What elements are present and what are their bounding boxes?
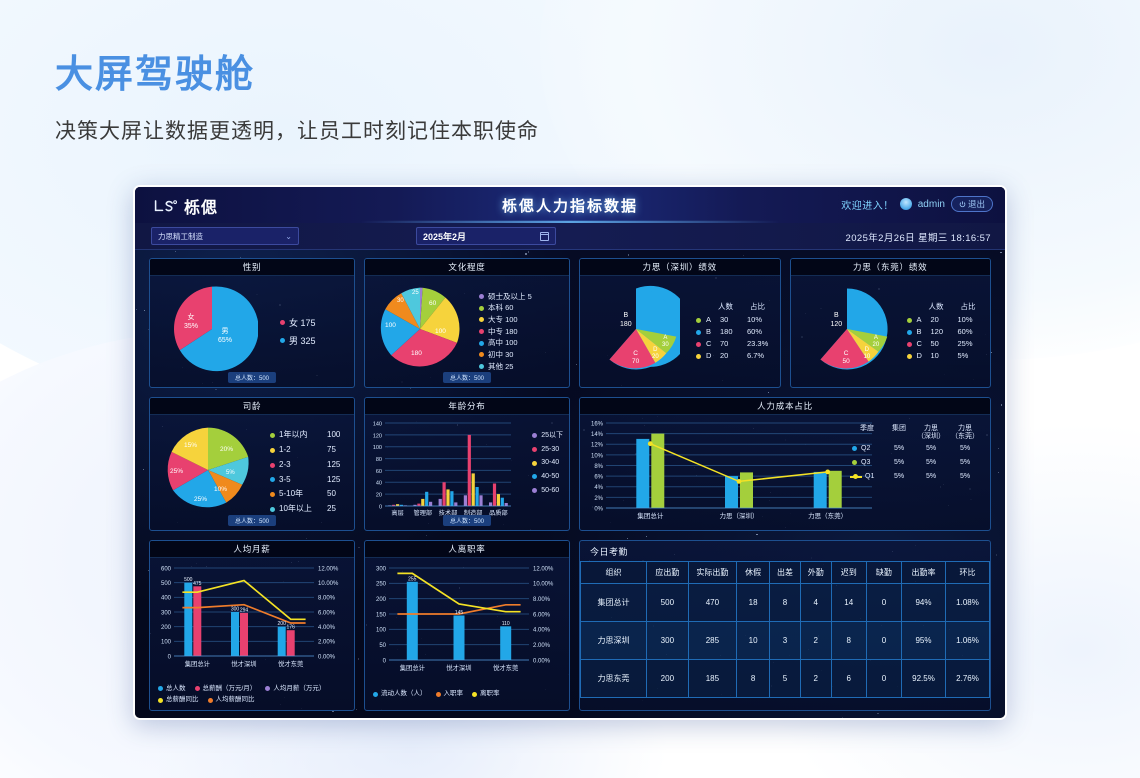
attendance-title: 今日考勤 bbox=[580, 541, 990, 561]
legend-dot-icon bbox=[270, 492, 275, 497]
perf-dg-label-b: B120 bbox=[831, 311, 843, 329]
table-cell: 力思东莞 bbox=[581, 660, 647, 698]
legend-dot-icon bbox=[907, 330, 912, 335]
svg-text:600: 600 bbox=[161, 566, 172, 572]
legend-dot-icon bbox=[696, 342, 701, 347]
legend-dot-icon bbox=[479, 317, 484, 322]
legend-dot-icon bbox=[532, 461, 537, 466]
table-cell: 5 bbox=[770, 660, 801, 698]
card-education: 文化程度 bbox=[364, 258, 570, 388]
chart-row-2: 司龄 2 bbox=[149, 397, 991, 531]
card-avg-salary: 人均月薪 600500400300200100012.00%10.00%8.00… bbox=[149, 540, 355, 711]
table-cell: 8 bbox=[770, 584, 801, 622]
card-body-perf-shenzhen: B180 C70 D20 A30 bbox=[580, 276, 780, 387]
org-select[interactable]: 力思精工制造 ⌄ bbox=[151, 227, 299, 245]
attendance-col-header: 应出勤 bbox=[646, 562, 688, 584]
table-row: 集团总计500470188414094%1.08% bbox=[581, 584, 990, 622]
hr-cost-table-row: Q1 5% 5% 5% bbox=[850, 473, 982, 480]
perf-sz-label-a: A30 bbox=[662, 335, 669, 349]
legend-line-icon bbox=[850, 476, 862, 478]
legend-dot-icon bbox=[696, 318, 701, 323]
chart-row-1: 性别 女 35% 男 bbox=[149, 258, 991, 388]
edu-label-60: 60 bbox=[429, 300, 436, 307]
legend-dot-icon bbox=[208, 698, 213, 703]
legend-item: 40-50 bbox=[532, 470, 563, 484]
card-age-distribution: 年龄分布 140120100806040200高层管理部技术部制造部品质部 25… bbox=[364, 397, 570, 531]
perf-row: D206.7% bbox=[696, 350, 778, 362]
legend-dot-icon bbox=[907, 354, 912, 359]
card-body-turnover: 30025020015010050012.00%10.00%8.00%6.00%… bbox=[365, 558, 569, 710]
table-cell: 0 bbox=[866, 660, 901, 698]
legend-item: 总薪酬（万元/月） bbox=[195, 683, 257, 695]
table-cell: 集团总计 bbox=[581, 584, 647, 622]
svg-text:200: 200 bbox=[278, 621, 287, 627]
hr-cost-table-header: 季度 集团 力思（深圳） 力思（东莞） bbox=[850, 425, 982, 441]
svg-text:12%: 12% bbox=[591, 443, 604, 449]
card-attendance: 今日考勤 组织应出勤实际出勤休假出差外勤迟到缺勤出勤率环比 集团总计500470… bbox=[579, 540, 991, 711]
svg-text:12.00%: 12.00% bbox=[318, 566, 339, 572]
svg-text:力思（深圳）: 力思（深圳） bbox=[720, 511, 759, 520]
month-picker[interactable]: 2025年2月 bbox=[416, 227, 556, 245]
page-title: 大屏驾驶舱 bbox=[55, 55, 539, 97]
dashboard-topbar: 栎偲 栎偲人力指标数据 欢迎进入！ admin 退出 bbox=[135, 187, 1005, 223]
legend-item: 其他 25 bbox=[479, 361, 532, 373]
legend-item: 2-3125 bbox=[270, 458, 340, 473]
svg-text:10.00%: 10.00% bbox=[318, 581, 339, 587]
legend-item: 离职率 bbox=[472, 688, 500, 700]
legend-dot-icon bbox=[532, 447, 537, 452]
perf-dg-pie: B120 C50 D10 A20 bbox=[803, 285, 891, 378]
perf-col-pct: 占比 bbox=[961, 301, 989, 312]
svg-text:悦才深圳: 悦才深圳 bbox=[446, 663, 471, 672]
brand: 栎偲 bbox=[153, 194, 218, 218]
education-pie: 60 100 180 100 30 25 bbox=[375, 284, 465, 379]
legend-item: 50-60 bbox=[532, 484, 563, 498]
hr-cost-table: 季度 集团 力思（深圳） 力思（东莞） Q2 5% 5% bbox=[850, 425, 982, 487]
table-row: 力思东莞2001858526092.5%2.76% bbox=[581, 660, 990, 698]
legend-dot-icon bbox=[479, 329, 484, 334]
svg-text:10.00%: 10.00% bbox=[533, 582, 554, 588]
table-cell: 4 bbox=[800, 584, 831, 622]
tenure-pct-5: 5% bbox=[226, 470, 235, 476]
gender-total: 总人数：500 bbox=[228, 372, 276, 383]
legend-dot-icon bbox=[479, 306, 484, 311]
perf-row: D105% bbox=[907, 350, 989, 362]
svg-text:2%: 2% bbox=[594, 496, 603, 502]
gender-pie: 女 35% 男 65% bbox=[166, 283, 258, 380]
table-cell: 0 bbox=[866, 622, 901, 660]
svg-text:力思（东莞）: 力思（东莞） bbox=[808, 511, 847, 520]
chart-grid: 性别 女 35% 男 bbox=[135, 250, 1005, 718]
tenure-pct-10: 10% bbox=[214, 486, 227, 493]
table-cell: 470 bbox=[688, 584, 736, 622]
th-group: 集团 bbox=[884, 425, 914, 441]
org-select-value: 力思精工制造 bbox=[158, 231, 203, 242]
perf-dg-label-d: D10 bbox=[864, 347, 871, 361]
table-cell: 92.5% bbox=[902, 660, 946, 698]
svg-text:400: 400 bbox=[161, 596, 172, 602]
legend-dot-icon bbox=[852, 446, 857, 451]
svg-text:悦才东莞: 悦才东莞 bbox=[278, 659, 303, 668]
legend-item: 初中 30 bbox=[479, 349, 532, 361]
logout-label: 退出 bbox=[968, 198, 985, 210]
legend-dot-icon bbox=[195, 686, 200, 691]
legend-item: 3-5125 bbox=[270, 473, 340, 488]
table-cell: 95% bbox=[902, 622, 946, 660]
table-cell: 1.06% bbox=[945, 622, 989, 660]
svg-text:200: 200 bbox=[161, 625, 172, 631]
svg-text:集团总计: 集团总计 bbox=[637, 511, 664, 520]
attendance-col-header: 休假 bbox=[737, 562, 770, 584]
edu-label-25: 25 bbox=[412, 290, 419, 296]
legend-item: 总人数 bbox=[158, 683, 186, 695]
legend-item: 1-275 bbox=[270, 443, 340, 458]
table-cell: 300 bbox=[646, 622, 688, 660]
legend-dot-icon bbox=[479, 341, 484, 346]
attendance-col-header: 外勤 bbox=[800, 562, 831, 584]
topbar-user-area: 欢迎进入！ admin 退出 bbox=[841, 196, 993, 212]
perf-row: A2010% bbox=[907, 314, 989, 326]
turnover-legend: 流动人数（人） 入职率 离职率 bbox=[373, 688, 500, 700]
legend-item: 高中 100 bbox=[479, 337, 532, 349]
table-cell: 力思深圳 bbox=[581, 622, 647, 660]
logout-button[interactable]: 退出 bbox=[951, 196, 993, 212]
svg-text:140: 140 bbox=[373, 421, 382, 427]
card-title-education: 文化程度 bbox=[365, 259, 569, 276]
svg-text:管理部: 管理部 bbox=[414, 509, 433, 517]
attendance-col-header: 出差 bbox=[770, 562, 801, 584]
table-cell: 8 bbox=[737, 660, 770, 698]
svg-text:10%: 10% bbox=[591, 453, 604, 459]
table-cell: 18 bbox=[737, 584, 770, 622]
table-row: 力思深圳30028510328095%1.06% bbox=[581, 622, 990, 660]
power-icon bbox=[959, 201, 966, 208]
table-cell: 3 bbox=[770, 622, 801, 660]
legend-dot-icon bbox=[270, 433, 275, 438]
gender-slice-label-male: 男 65% bbox=[218, 327, 232, 345]
table-cell: 285 bbox=[688, 622, 736, 660]
age-legend: 25以下 25-30 30-40 40-50 50-60 bbox=[532, 429, 563, 497]
svg-text:80: 80 bbox=[376, 457, 382, 463]
svg-text:255: 255 bbox=[408, 576, 417, 582]
table-cell: 1.08% bbox=[945, 584, 989, 622]
perf-col-pct: 占比 bbox=[750, 301, 778, 312]
card-title-avg-salary: 人均月薪 bbox=[150, 541, 354, 558]
hr-cost-plot: 16%14%12%10%8%6%4%2%0%集团总计力思（深圳）力思（东莞） bbox=[580, 415, 880, 530]
legend-dot-icon bbox=[436, 692, 441, 697]
legend-item: 中专 180 bbox=[479, 326, 532, 338]
gender-legend: 女 175 男 325 bbox=[280, 314, 316, 350]
tenure-total: 总人数：500 bbox=[228, 515, 276, 526]
tenure-pct-20: 20% bbox=[220, 446, 233, 453]
salary-legend: 总人数 总薪酬（万元/月） 人均月薪（万元） 总薪酬同比 人均薪酬同比 bbox=[158, 683, 325, 706]
card-title-tenure: 司龄 bbox=[150, 398, 354, 415]
card-body-education: 60 100 180 100 30 25 硕士及以上 5 本科 60 大专 10… bbox=[365, 276, 569, 387]
svg-text:100: 100 bbox=[373, 445, 382, 451]
card-title-age: 年龄分布 bbox=[365, 398, 569, 415]
tenure-pct-25a: 25% bbox=[194, 496, 207, 503]
svg-text:8%: 8% bbox=[594, 464, 603, 470]
card-hr-cost: 人力成本占比 16%14%12%10%8%6%4%2%0%集团总计力思（深圳）力… bbox=[579, 397, 991, 531]
card-body-hr-cost: 16%14%12%10%8%6%4%2%0%集团总计力思（深圳）力思（东莞） 季… bbox=[580, 415, 990, 530]
legend-item: 女 175 bbox=[280, 314, 316, 332]
svg-text:200: 200 bbox=[376, 597, 387, 603]
perf-sz-label-d: D20 bbox=[652, 347, 659, 361]
perf-sz-table: 人数 占比 A3010% B18060% C7023.3% D206.7% bbox=[696, 301, 778, 362]
page-subtitle: 决策大屏让数据更透明，让员工时刻记住本职使命 bbox=[55, 115, 539, 145]
month-picker-value: 2025年2月 bbox=[423, 230, 466, 243]
dashboard-title: 栎偲人力指标数据 bbox=[502, 195, 638, 216]
svg-text:120: 120 bbox=[373, 433, 382, 439]
svg-text:20: 20 bbox=[376, 493, 382, 499]
table-cell: 0 bbox=[866, 584, 901, 622]
tenure-pct-15: 15% bbox=[184, 442, 197, 449]
svg-text:0.00%: 0.00% bbox=[318, 654, 336, 660]
age-total: 总人数：500 bbox=[443, 515, 491, 526]
attendance-col-header: 环比 bbox=[945, 562, 989, 584]
svg-text:集团总计: 集团总计 bbox=[400, 663, 426, 672]
attendance-col-header: 实际出勤 bbox=[688, 562, 736, 584]
table-cell: 14 bbox=[831, 584, 866, 622]
th-dg: 力思（东莞） bbox=[948, 425, 982, 441]
perf-row: B18060% bbox=[696, 326, 778, 338]
table-cell: 185 bbox=[688, 660, 736, 698]
svg-text:6.00%: 6.00% bbox=[318, 610, 336, 616]
dashboard-frame: 栎偲 栎偲人力指标数据 欢迎进入！ admin 退出 力思精工制造 ⌄ 2025… bbox=[133, 185, 1007, 720]
brand-name: 栎偲 bbox=[184, 194, 218, 218]
legend-item: 5-10年50 bbox=[270, 487, 340, 502]
svg-text:0.00%: 0.00% bbox=[533, 658, 551, 664]
perf-col-count: 人数 bbox=[929, 301, 951, 312]
perf-row: C5025% bbox=[907, 338, 989, 350]
svg-text:8.00%: 8.00% bbox=[533, 597, 551, 603]
svg-text:100: 100 bbox=[161, 640, 172, 646]
legend-item: 入职率 bbox=[436, 688, 464, 700]
legend-dot-icon bbox=[158, 686, 163, 691]
perf-dg-table: 人数 占比 A2010% B12060% C5025% D105% bbox=[907, 301, 989, 362]
edu-label-100a: 100 bbox=[435, 328, 446, 335]
svg-text:0: 0 bbox=[168, 654, 172, 660]
svg-text:50: 50 bbox=[379, 643, 386, 649]
table-cell: 10 bbox=[737, 622, 770, 660]
gender-slice-label-female: 女 35% bbox=[184, 313, 198, 331]
attendance-col-header: 出勤率 bbox=[902, 562, 946, 584]
card-body-gender: 女 35% 男 65% 女 175 bbox=[150, 276, 354, 387]
svg-text:300: 300 bbox=[231, 607, 240, 613]
welcome-text: 欢迎进入！ bbox=[841, 197, 894, 212]
perf-sz-label-c: C70 bbox=[632, 350, 639, 366]
table-cell: 500 bbox=[646, 584, 688, 622]
th-sz: 力思（深圳） bbox=[914, 425, 948, 441]
legend-item: 男 325 bbox=[280, 332, 316, 350]
legend-item: 1年以内100 bbox=[270, 428, 340, 443]
legend-dot-icon bbox=[852, 460, 857, 465]
table-cell: 2 bbox=[800, 622, 831, 660]
page-heading: 大屏驾驶舱 决策大屏让数据更透明，让员工时刻记住本职使命 bbox=[55, 55, 539, 145]
card-perf-dongguan: 力思（东莞）绩效 B120 bbox=[790, 258, 992, 388]
svg-text:6%: 6% bbox=[594, 475, 603, 481]
chevron-down-icon: ⌄ bbox=[285, 232, 292, 241]
card-body-avg-salary: 600500400300200100012.00%10.00%8.00%6.00… bbox=[150, 558, 354, 710]
legend-dot-icon bbox=[532, 488, 537, 493]
svg-text:300: 300 bbox=[376, 566, 387, 572]
svg-text:60: 60 bbox=[376, 469, 382, 475]
legend-dot-icon bbox=[280, 338, 285, 343]
legend-dot-icon bbox=[270, 448, 275, 453]
tenure-legend: 1年以内100 1-275 2-3125 3-5125 5-10年50 10年以… bbox=[270, 428, 340, 517]
legend-dot-icon bbox=[479, 294, 484, 299]
attendance-col-header: 组织 bbox=[581, 562, 647, 584]
svg-text:悦才深圳: 悦才深圳 bbox=[231, 659, 256, 668]
svg-text:6.00%: 6.00% bbox=[533, 612, 551, 618]
table-cell: 2 bbox=[800, 660, 831, 698]
tenure-pie: 20% 5% 10% 25% 25% 15% bbox=[162, 424, 254, 521]
attendance-table: 组织应出勤实际出勤休假出差外勤迟到缺勤出勤率环比 集团总计50047018841… bbox=[580, 561, 990, 698]
attendance-table-wrap: 组织应出勤实际出勤休假出差外勤迟到缺勤出勤率环比 集团总计50047018841… bbox=[580, 561, 990, 710]
legend-item: 25以下 bbox=[532, 429, 563, 443]
dashboard: 栎偲 栎偲人力指标数据 欢迎进入！ admin 退出 力思精工制造 ⌄ 2025… bbox=[135, 187, 1005, 718]
education-legend: 硕士及以上 5 本科 60 大专 100 中专 180 高中 100 初中 30… bbox=[479, 291, 532, 372]
legend-dot-icon bbox=[696, 330, 701, 335]
legend-dot-icon bbox=[696, 354, 701, 359]
svg-text:0%: 0% bbox=[594, 506, 603, 512]
legend-dot-icon bbox=[270, 477, 275, 482]
svg-text:0: 0 bbox=[379, 504, 382, 510]
perf-sz-label-b: B180 bbox=[620, 311, 632, 329]
card-turnover: 人离职率 30025020015010050012.00%10.00%8.00%… bbox=[364, 540, 570, 711]
card-body-perf-dongguan: B120 C50 D10 A20 bbox=[791, 276, 991, 387]
perf-dg-label-a: A20 bbox=[873, 335, 880, 349]
table-cell: 8 bbox=[831, 622, 866, 660]
legend-dot-icon bbox=[479, 352, 484, 357]
svg-text:2.00%: 2.00% bbox=[533, 643, 551, 649]
tenure-pct-25b: 25% bbox=[170, 468, 183, 475]
card-body-age: 140120100806040200高层管理部技术部制造部品质部 25以下 25… bbox=[365, 415, 569, 530]
filter-bar: 力思精工制造 ⌄ 2025年2月 2025年2月26日 星期三 18:16:57 bbox=[135, 223, 1005, 250]
attendance-header-row: 组织应出勤实际出勤休假出差外勤迟到缺勤出勤率环比 bbox=[581, 562, 990, 584]
username-label: admin bbox=[918, 199, 945, 210]
svg-text:集团总计: 集团总计 bbox=[185, 659, 211, 668]
edu-label-30: 30 bbox=[397, 298, 404, 304]
turnover-plot: 30025020015010050012.00%10.00%8.00%6.00%… bbox=[365, 558, 569, 682]
card-title-perf-dongguan: 力思（东莞）绩效 bbox=[791, 259, 991, 276]
card-perf-shenzhen: 力思（深圳）绩效 bbox=[579, 258, 781, 388]
table-cell: 94% bbox=[902, 584, 946, 622]
table-cell: 2.76% bbox=[945, 660, 989, 698]
chart-row-3: 人均月薪 600500400300200100012.00%10.00%8.00… bbox=[149, 540, 991, 711]
legend-dot-icon bbox=[907, 342, 912, 347]
card-body-tenure: 20% 5% 10% 25% 25% 15% 1年以内100 1-275 2-3… bbox=[150, 415, 354, 530]
svg-text:110: 110 bbox=[502, 621, 510, 627]
legend-dot-icon bbox=[270, 507, 275, 512]
education-total: 总人数：500 bbox=[443, 372, 491, 383]
svg-text:500: 500 bbox=[184, 577, 193, 583]
perf-dg-label-c: C50 bbox=[843, 350, 850, 366]
svg-text:150: 150 bbox=[376, 612, 387, 618]
card-title-turnover: 人离职率 bbox=[365, 541, 569, 558]
legend-dot-icon bbox=[472, 692, 477, 697]
legend-item: 10年以上25 bbox=[270, 502, 340, 517]
legend-item: 25-30 bbox=[532, 443, 563, 457]
perf-row: C7023.3% bbox=[696, 338, 778, 350]
clock-display: 2025年2月26日 星期三 18:16:57 bbox=[846, 230, 991, 244]
svg-text:14%: 14% bbox=[591, 432, 604, 438]
svg-text:品质部: 品质部 bbox=[489, 509, 508, 517]
svg-text:100: 100 bbox=[376, 628, 387, 634]
card-tenure: 司龄 2 bbox=[149, 397, 355, 531]
legend-dot-icon bbox=[907, 318, 912, 323]
legend-item: 总薪酬同比 bbox=[158, 694, 199, 706]
svg-text:16%: 16% bbox=[591, 421, 604, 427]
card-gender: 性别 女 35% 男 bbox=[149, 258, 355, 388]
avatar bbox=[900, 198, 912, 210]
svg-text:2.00%: 2.00% bbox=[318, 640, 336, 646]
legend-dot-icon bbox=[532, 474, 537, 479]
edu-label-180: 180 bbox=[411, 350, 422, 357]
hr-cost-table-row: Q3 5% 5% 5% bbox=[850, 459, 982, 466]
edu-label-100b: 100 bbox=[385, 322, 396, 329]
perf-row: A3010% bbox=[696, 314, 778, 326]
svg-text:8.00%: 8.00% bbox=[318, 596, 336, 602]
svg-text:悦才东莞: 悦才东莞 bbox=[493, 663, 518, 672]
hr-cost-table-row: Q2 5% 5% 5% bbox=[850, 445, 982, 452]
svg-text:4.00%: 4.00% bbox=[533, 628, 551, 634]
table-cell: 6 bbox=[831, 660, 866, 698]
th-quarter: 季度 bbox=[850, 425, 884, 441]
svg-text:0: 0 bbox=[383, 658, 387, 664]
svg-text:4.00%: 4.00% bbox=[318, 625, 336, 631]
attendance-col-header: 缺勤 bbox=[866, 562, 901, 584]
card-title-perf-shenzhen: 力思（深圳）绩效 bbox=[580, 259, 780, 276]
legend-item: 人均月薪（万元） bbox=[265, 683, 325, 695]
svg-text:40: 40 bbox=[376, 481, 382, 487]
svg-text:250: 250 bbox=[376, 582, 387, 588]
perf-sz-pie: B180 C70 D20 A30 bbox=[592, 285, 680, 378]
attendance-col-header: 迟到 bbox=[831, 562, 866, 584]
svg-text:300: 300 bbox=[161, 610, 172, 616]
legend-dot-icon bbox=[373, 692, 378, 697]
card-title-hr-cost: 人力成本占比 bbox=[580, 398, 990, 415]
svg-text:500: 500 bbox=[161, 581, 172, 587]
perf-col-count: 人数 bbox=[718, 301, 740, 312]
legend-dot-icon bbox=[158, 698, 163, 703]
calendar-icon bbox=[540, 232, 549, 241]
legend-dot-icon bbox=[270, 463, 275, 468]
legend-dot-icon bbox=[479, 364, 484, 369]
salary-plot: 600500400300200100012.00%10.00%8.00%6.00… bbox=[150, 558, 354, 678]
svg-text:4%: 4% bbox=[594, 485, 603, 491]
logo-icon bbox=[153, 199, 179, 214]
perf-row: B12060% bbox=[907, 326, 989, 338]
svg-text:475: 475 bbox=[193, 581, 202, 587]
legend-dot-icon bbox=[265, 686, 270, 691]
card-title-gender: 性别 bbox=[150, 259, 354, 276]
svg-text:294: 294 bbox=[240, 607, 249, 613]
legend-item: 30-40 bbox=[532, 456, 563, 470]
legend-item: 本科 60 bbox=[479, 302, 532, 314]
legend-item: 人均薪酬同比 bbox=[208, 694, 255, 706]
svg-text:12.00%: 12.00% bbox=[533, 566, 554, 572]
legend-item: 大专 100 bbox=[479, 314, 532, 326]
legend-dot-icon bbox=[532, 433, 537, 438]
legend-item: 硕士及以上 5 bbox=[479, 291, 532, 303]
svg-text:145: 145 bbox=[455, 610, 464, 616]
table-cell: 200 bbox=[646, 660, 688, 698]
legend-dot-icon bbox=[280, 320, 285, 325]
svg-text:高层: 高层 bbox=[391, 509, 403, 517]
legend-item: 流动人数（人） bbox=[373, 688, 427, 700]
svg-text:176: 176 bbox=[287, 625, 296, 631]
